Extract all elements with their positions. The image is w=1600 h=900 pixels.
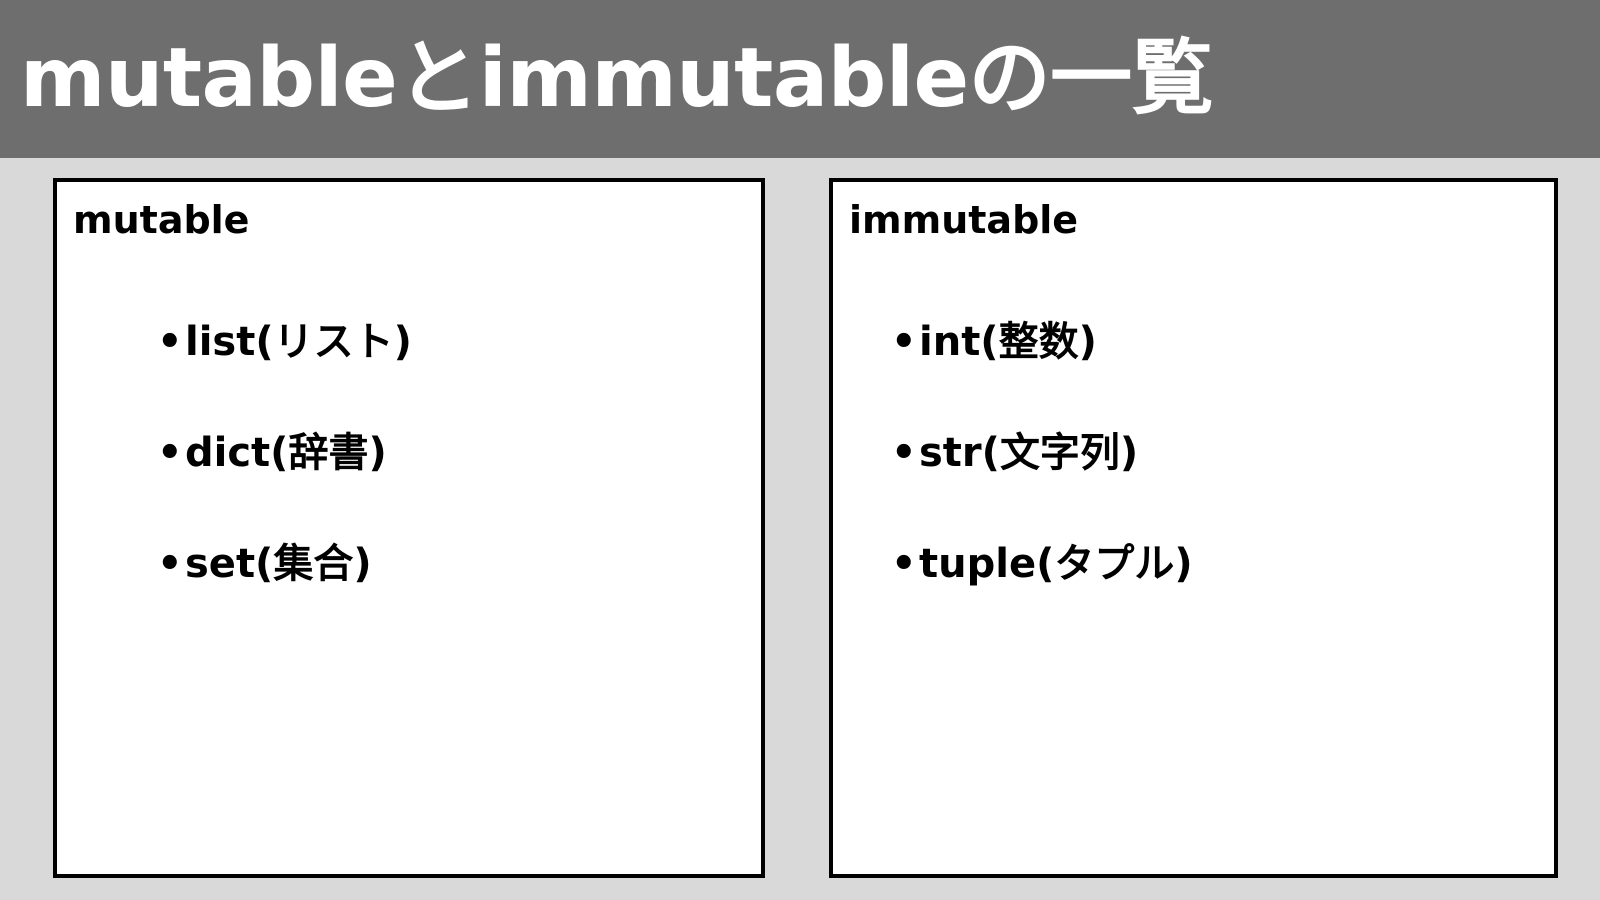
panel-immutable-list: • int(整数) • str(文字列) • tuple(タプル)	[833, 322, 1554, 655]
list-item-label: str(文字列)	[919, 433, 1138, 473]
slide-content: mutable • list(リスト) • dict(辞書) • set(集合)…	[0, 158, 1600, 900]
panel-mutable-list: • list(リスト) • dict(辞書) • set(集合)	[57, 322, 761, 655]
list-item: • str(文字列)	[833, 433, 1554, 544]
bullet-icon: •	[157, 433, 185, 473]
panel-immutable: immutable • int(整数) • str(文字列) • tuple(タ…	[829, 178, 1558, 878]
panel-immutable-heading: immutable	[849, 198, 1078, 244]
slide-title-band: mutableとimmutableの一覧	[0, 0, 1600, 158]
panel-mutable-heading: mutable	[73, 198, 249, 244]
list-item-label: tuple(タプル)	[919, 544, 1193, 584]
bullet-icon: •	[891, 544, 919, 584]
list-item-label: list(リスト)	[185, 322, 412, 362]
bullet-icon: •	[157, 322, 185, 362]
list-item-label: int(整数)	[919, 322, 1097, 362]
list-item: • dict(辞書)	[57, 433, 761, 544]
list-item: • tuple(タプル)	[833, 544, 1554, 655]
bullet-icon: •	[891, 322, 919, 362]
list-item-label: set(集合)	[185, 544, 372, 584]
bullet-icon: •	[891, 433, 919, 473]
list-item: • int(整数)	[833, 322, 1554, 433]
list-item: • set(集合)	[57, 544, 761, 655]
list-item: • list(リスト)	[57, 322, 761, 433]
bullet-icon: •	[157, 544, 185, 584]
list-item-label: dict(辞書)	[185, 433, 387, 473]
slide-title: mutableとimmutableの一覧	[20, 38, 1213, 120]
panel-mutable: mutable • list(リスト) • dict(辞書) • set(集合)	[53, 178, 765, 878]
